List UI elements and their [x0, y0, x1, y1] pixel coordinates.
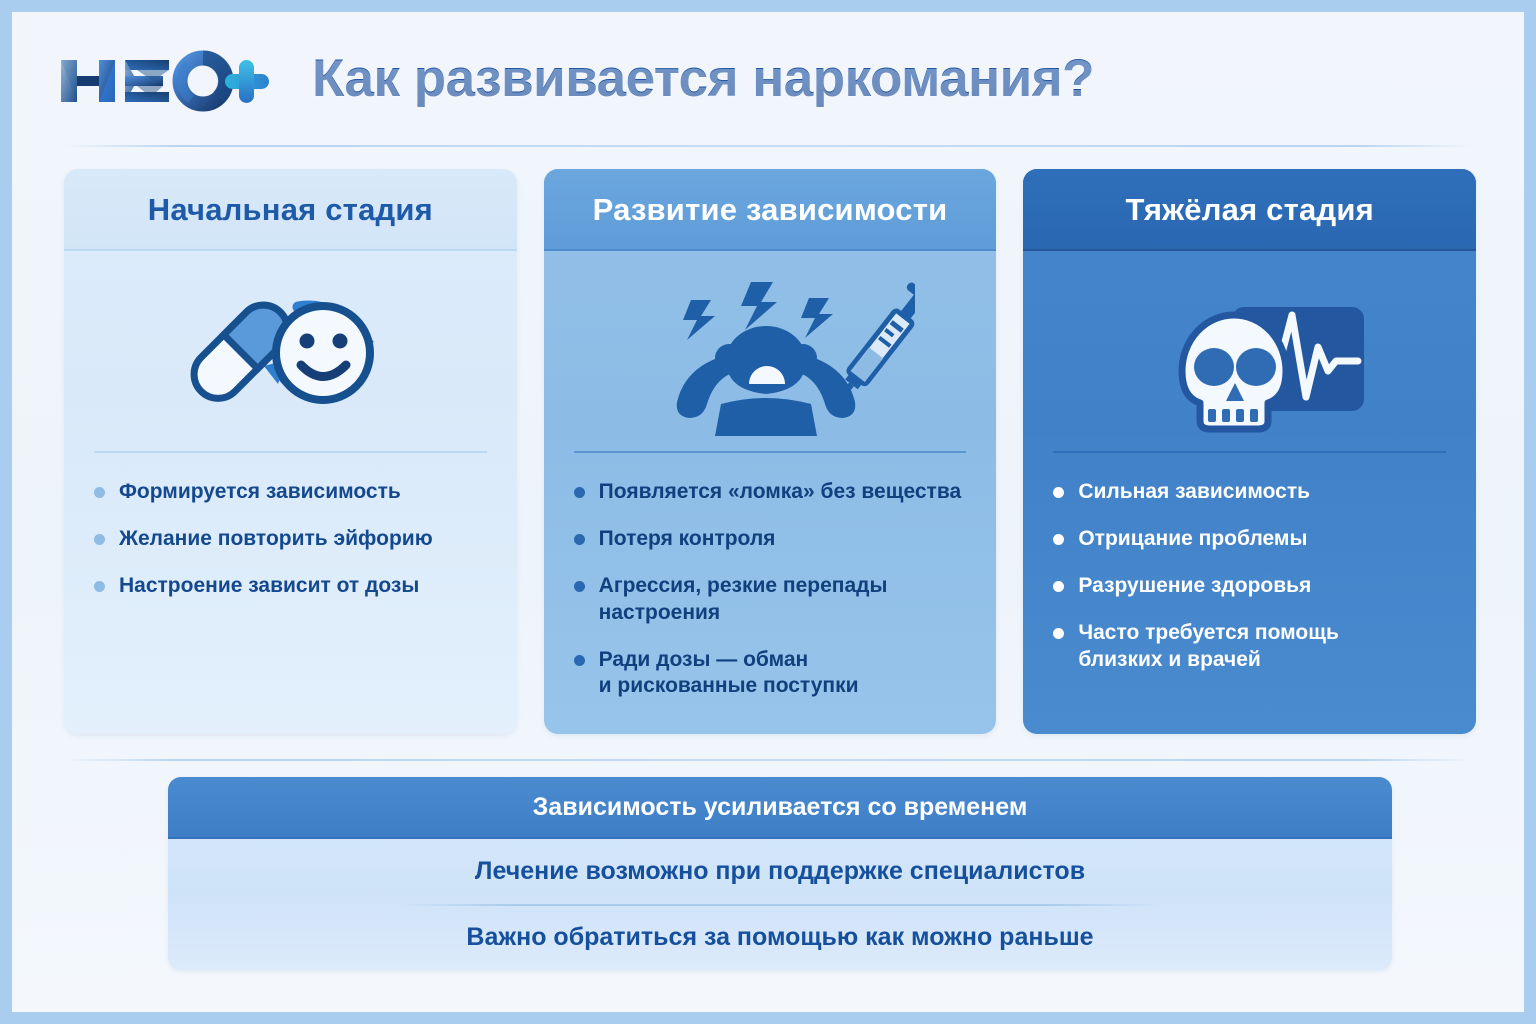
list-item: Отрицание проблемы — [1053, 526, 1450, 553]
summary-banner: Зависимость усиливается со временем — [168, 777, 1392, 839]
bullet-dot-icon — [94, 487, 105, 498]
list-item: Ради дозы — обман и рискованные поступки — [574, 647, 971, 701]
stage-card-body: Сильная зависимость Отрицание проблемы Р… — [1023, 251, 1476, 734]
stage-card-title: Начальная стадия — [64, 169, 517, 251]
bullet-dot-icon — [94, 581, 105, 592]
bullet-text: Появляется «ломка» без вещества — [599, 479, 961, 506]
list-item: Желание повторить эйфорию — [94, 526, 491, 553]
list-item: Агрессия, резкие перепады настроения — [574, 573, 971, 627]
list-item: Разрушение здоровья — [1053, 573, 1450, 600]
list-item: Потеря контроля — [574, 526, 971, 553]
bullet-dot-icon — [1053, 628, 1064, 639]
bullet-dot-icon — [1053, 581, 1064, 592]
bullet-text: Агрессия, резкие перепады настроения — [599, 573, 971, 627]
bullet-dot-icon — [1053, 487, 1064, 498]
bullet-dot-icon — [574, 655, 585, 666]
bullet-text: Потеря контроля — [599, 526, 776, 553]
bullet-dot-icon — [574, 581, 585, 592]
stage-card-title: Тяжёлая стадия — [1023, 169, 1476, 251]
stage-card-body: Появляется «ломка» без вещества Потеря к… — [544, 251, 997, 734]
stage-card-severe[interactable]: Тяжёлая стадия — [1023, 169, 1476, 734]
summary-line-treatment: Лечение возможно при поддержке специалис… — [168, 839, 1392, 904]
bullet-text: Сильная зависимость — [1078, 479, 1310, 506]
bullet-text: Желание повторить эйфорию — [119, 526, 433, 553]
bullet-text: Часто требуется помощь близких и врачей — [1078, 620, 1339, 674]
headache-person-syringe-icon — [544, 251, 997, 451]
footer-divider — [64, 759, 1472, 761]
neo-plus-logo — [57, 50, 272, 112]
summary-panel: Зависимость усиливается со временем Лече… — [168, 777, 1392, 970]
header-divider — [64, 145, 1472, 147]
bullet-dot-icon — [574, 487, 585, 498]
bullet-dot-icon — [574, 534, 585, 545]
infographic-page: Как развивается наркомания? Начальная ст… — [12, 12, 1524, 1012]
bullet-text: Ради дозы — обман и рискованные поступки — [599, 647, 859, 701]
list-item: Часто требуется помощь близких и врачей — [1053, 620, 1450, 674]
bullet-dot-icon — [94, 534, 105, 545]
bullet-text: Формируется зависимость — [119, 479, 401, 506]
skull-ecg-icon — [1023, 251, 1476, 451]
stage-bullet-list: Появляется «ломка» без вещества Потеря к… — [544, 453, 997, 720]
list-item: Настроение зависит от дозы — [94, 573, 491, 600]
pill-smiley-cycle-icon — [64, 251, 517, 451]
bullet-text: Разрушение здоровья — [1078, 573, 1311, 600]
stages-container: Начальная стадия — [64, 169, 1476, 734]
list-item: Формируется зависимость — [94, 479, 491, 506]
page-header: Как развивается наркомания? — [12, 12, 1524, 134]
list-item: Появляется «ломка» без вещества — [574, 479, 971, 506]
bullet-text: Настроение зависит от дозы — [119, 573, 419, 600]
page-title: Как развивается наркомания? — [312, 48, 1094, 109]
stage-card-body: Формируется зависимость Желание повторит… — [64, 251, 517, 734]
summary-line-urgency: Важно обратиться за помощью как можно ра… — [168, 906, 1392, 971]
stage-card-title: Развитие зависимости — [544, 169, 997, 251]
list-item: Сильная зависимость — [1053, 479, 1450, 506]
bullet-dot-icon — [1053, 534, 1064, 545]
stage-card-initial[interactable]: Начальная стадия — [64, 169, 517, 734]
stage-bullet-list: Сильная зависимость Отрицание проблемы Р… — [1023, 453, 1476, 693]
stage-bullet-list: Формируется зависимость Желание повторит… — [64, 453, 517, 620]
bullet-text: Отрицание проблемы — [1078, 526, 1307, 553]
stage-card-development[interactable]: Развитие зависимости — [544, 169, 997, 734]
